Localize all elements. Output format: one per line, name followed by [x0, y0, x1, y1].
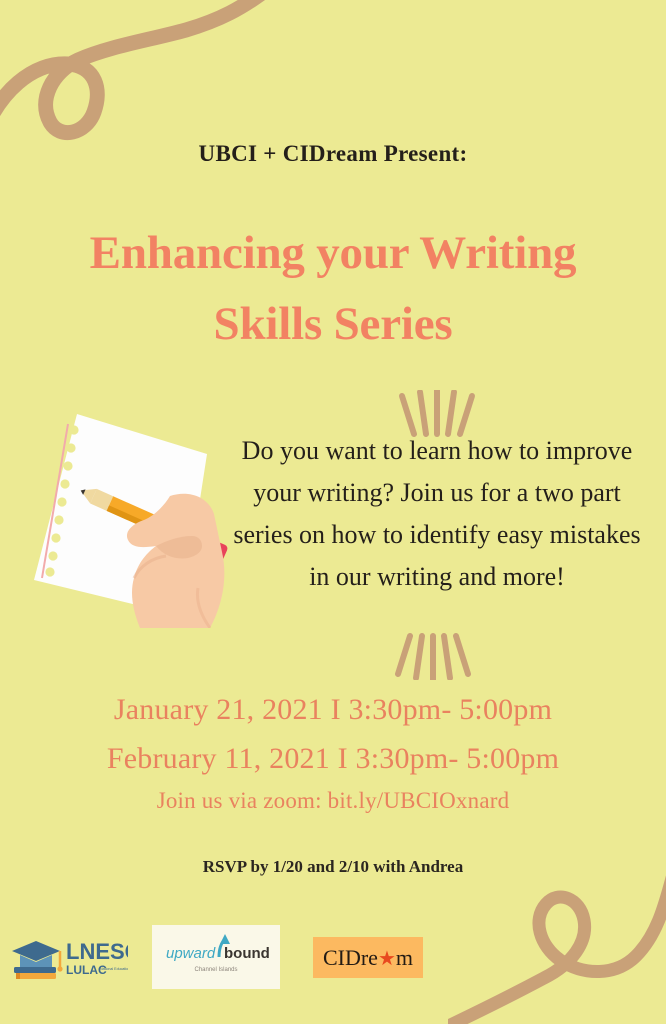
rsvp-note: RSVP by 1/20 and 2/10 with Andrea [0, 857, 666, 877]
page-title-line-1: Enhancing your Writing [0, 218, 666, 289]
upward-wordmark: upward [166, 945, 216, 962]
cidream-prefix: CIDre [323, 945, 378, 970]
lnesc-wordmark: LNESC [66, 939, 128, 964]
presenter-line: UBCI + CIDream Present: [0, 141, 666, 167]
lnesc-tagline: National Educational Service Centers, In… [100, 967, 128, 971]
cidream-suffix: m [396, 945, 413, 970]
sponsor-logo-row: LNESC LULAC National Educational Service… [0, 925, 666, 995]
lnesc-lulac-logo: LNESC LULAC National Educational Service… [8, 933, 128, 985]
zoom-link[interactable]: Join us via zoom: bit.ly/UBCIOxnard [0, 783, 666, 820]
session-date-2: February 11, 2021 I 3:30pm- 5:00pm [0, 735, 666, 784]
cidream-logo: CIDre★m [313, 937, 423, 978]
page-title-line-2: Skills Series [0, 289, 666, 360]
bound-wordmark: bound [224, 945, 270, 962]
session-date-1: January 21, 2021 I 3:30pm- 5:00pm [0, 686, 666, 735]
decorative-swirl-top-left [0, 0, 290, 144]
page-title: Enhancing your Writing Skills Series [0, 218, 666, 359]
sparkle-burst-bottom-icon [384, 628, 480, 680]
star-icon: ★ [378, 948, 396, 970]
session-details: January 21, 2021 I 3:30pm- 5:00pm Februa… [0, 686, 666, 820]
poster-canvas: UBCI + CIDream Present: Enhancing your W… [0, 0, 666, 1024]
upward-bound-logo: upward bound Channel Islands [152, 925, 280, 989]
cidream-wordmark: CIDre★m [313, 937, 423, 978]
upward-bound-sub: Channel Islands [194, 967, 237, 973]
hand-writing-illustration [22, 402, 248, 628]
description-text: Do you want to learn how to improve your… [232, 430, 642, 598]
graduation-cap-books-icon [12, 941, 63, 979]
